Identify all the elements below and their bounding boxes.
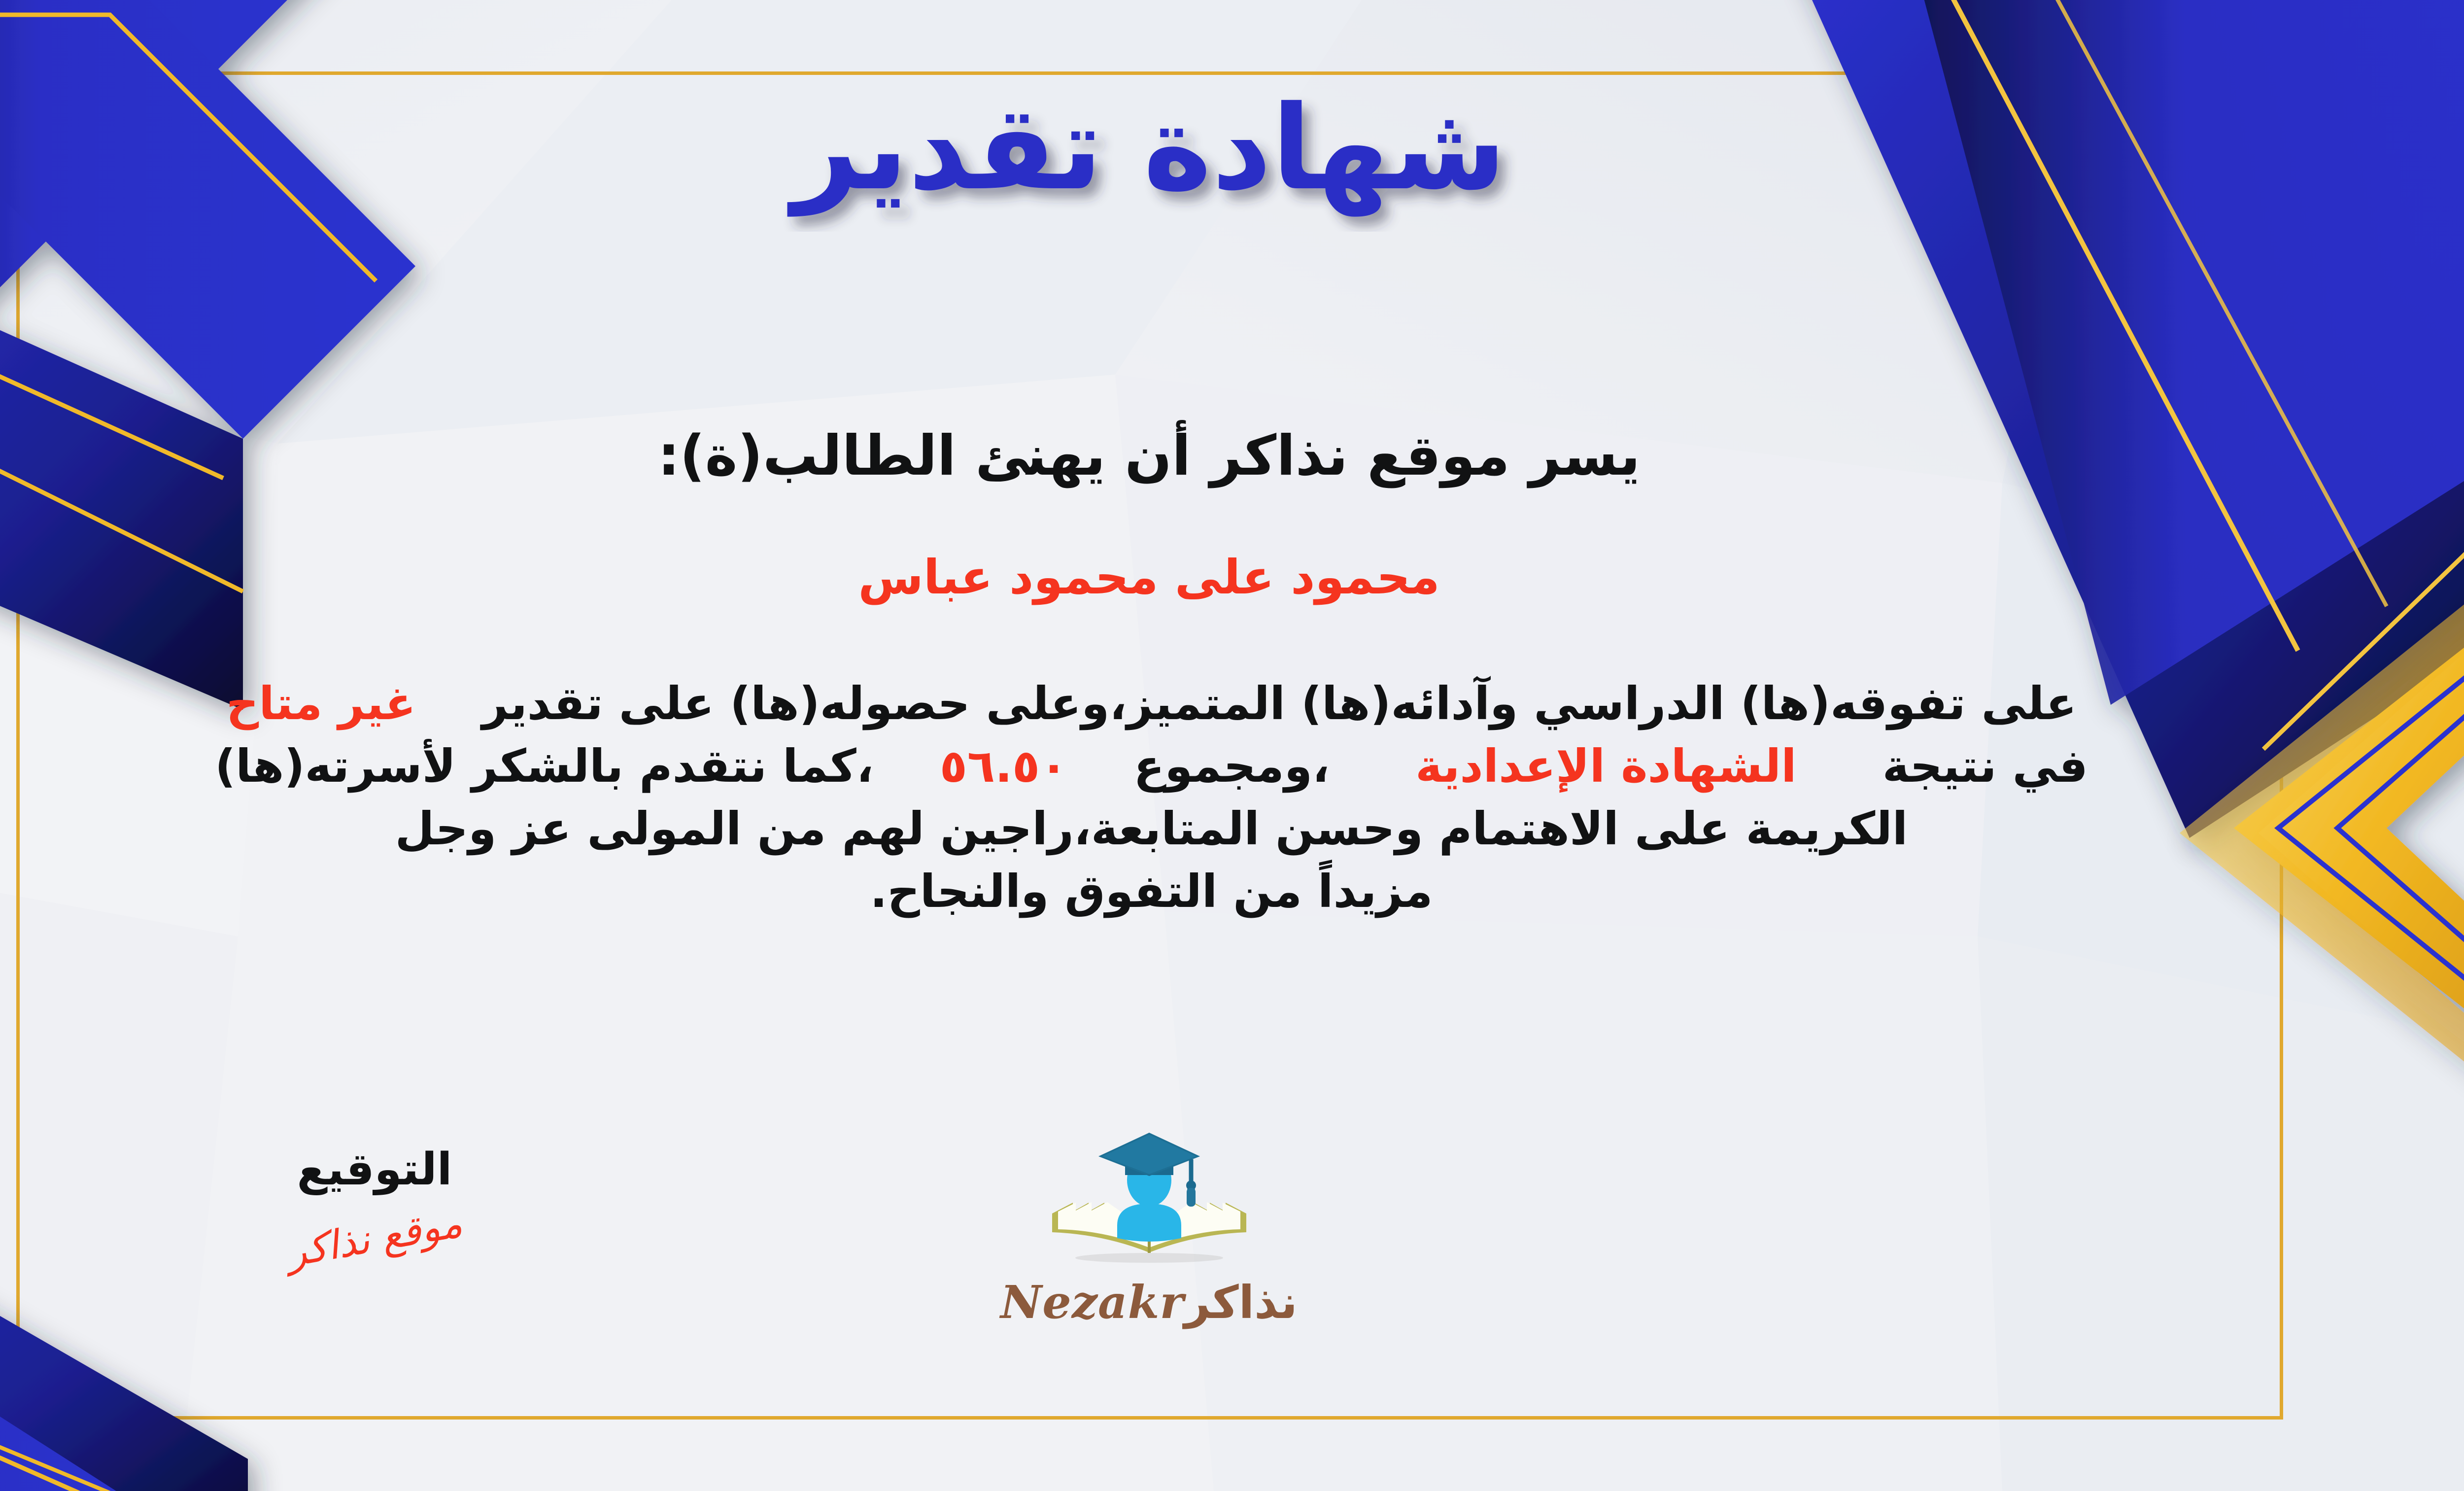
graduate-book-icon <box>1043 1129 1255 1277</box>
certificate-title-wrap: شهادة تقدير <box>0 74 2464 234</box>
brand-wordmark-latin: Nezakr <box>1000 1276 1184 1329</box>
brand-logo: نذاكرNezakr <box>0 1129 2464 1329</box>
intro-line: يسر موقع نذاكر أن يهنئ الطالب(ة): <box>0 424 2464 488</box>
body-line-4: مزيداً من التفوق والنجاح. <box>21 861 2282 923</box>
exam-name: الشهادة الإعدادية <box>1415 740 1797 793</box>
brand-wordmark-arabic: نذاكر <box>1184 1276 1298 1329</box>
student-name: محمود على محمود عباس <box>0 550 2464 605</box>
brand-wordmark: نذاكرNezakr <box>0 1276 2464 1329</box>
body-line-3: الكريمة على الاهتمام وحسن المتابعة،راجين… <box>21 798 2282 861</box>
body-line-1-text: على تفوقه(ها) الدراسي وآدائه(ها) المتميز… <box>482 677 2077 730</box>
certificate-body: على تفوقه(ها) الدراسي وآدائه(ها) المتميز… <box>21 673 2282 923</box>
certificate-title-text: شهادة تقدير <box>787 80 1506 217</box>
body-line-1: على تفوقه(ها) الدراسي وآدائه(ها) المتميز… <box>21 673 2282 735</box>
total-label: ،ومجموع <box>1133 740 1330 793</box>
total-score: ٥٦.٥٠ <box>940 740 1068 793</box>
body-line-2: في نتيجة الشهادة الإعدادية ،ومجموع ٥٦.٥٠… <box>21 735 2282 798</box>
grade-value: غير متاح <box>226 677 416 730</box>
certificate-page: شهادة تقدير يسر موقع نذاكر أن يهنئ الطال… <box>0 0 2464 1491</box>
certificate-title-calligraphy: شهادة تقدير <box>681 74 1617 232</box>
result-prefix: في نتيجة <box>1882 740 2088 793</box>
thanks-text: ،كما نتقدم بالشكر لأسرته(ها) <box>215 740 874 793</box>
